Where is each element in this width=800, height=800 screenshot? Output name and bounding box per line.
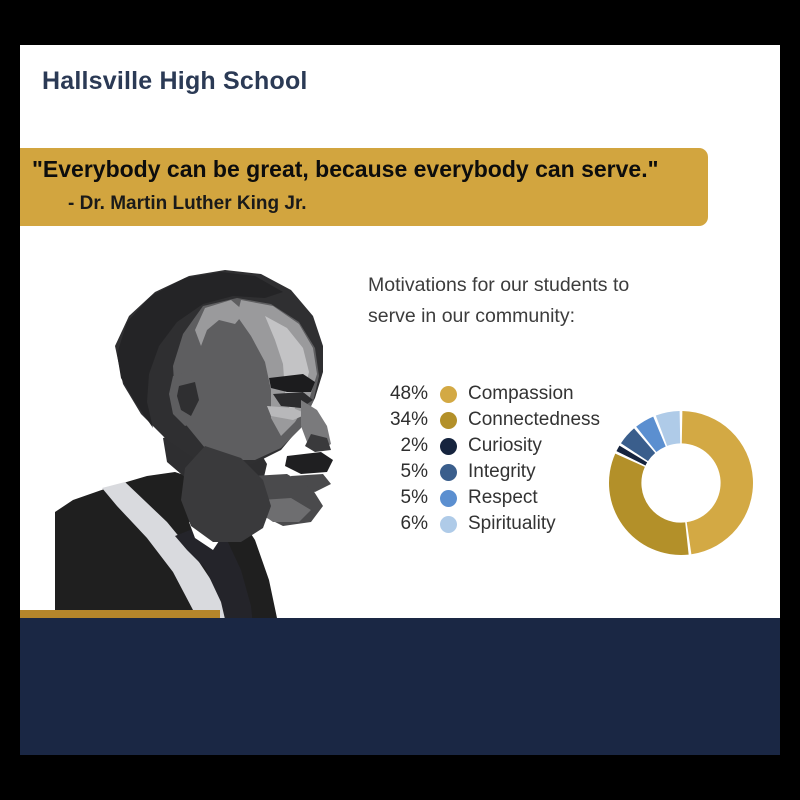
legend-item-compassion: 48% Compassion	[380, 381, 600, 407]
quote-attribution: - Dr. Martin Luther King Jr.	[68, 193, 307, 215]
legend-item-connectedness: 34% Connectedness	[380, 407, 600, 433]
quote-banner: "Everybody can be great, because everybo…	[20, 148, 708, 226]
legend-swatch-curiosity	[440, 438, 457, 455]
donut-slice-compassion	[682, 411, 753, 554]
legend-swatch-spirituality	[440, 516, 457, 533]
footer-banner: 2026 CELEBRATING MLK DAY OF SERVICE	[20, 618, 780, 755]
page-title: Hallsville High School	[42, 67, 308, 96]
legend-percent: 34%	[380, 409, 428, 431]
legend-item-curiosity: 2% Curiosity	[380, 433, 600, 459]
legend-percent: 5%	[380, 487, 428, 509]
legend-percent: 2%	[380, 435, 428, 457]
poster-stage: Hallsville High School "Everybody can be…	[0, 0, 800, 800]
legend-label: Connectedness	[468, 409, 600, 431]
legend-label: Respect	[468, 487, 538, 509]
donut-slice-connectedness	[609, 454, 689, 555]
legend-swatch-integrity	[440, 464, 457, 481]
chart-heading: Motivations for our students to serve in…	[368, 270, 678, 332]
legend-percent: 6%	[380, 513, 428, 535]
legend-label: Curiosity	[468, 435, 542, 457]
legend-swatch-compassion	[440, 386, 457, 403]
legend-item-spirituality: 6% Spirituality	[380, 511, 600, 537]
mlk-portrait-illustration	[55, 250, 385, 645]
legend-label: Integrity	[468, 461, 536, 483]
chart-legend: 48% Compassion 34% Connectedness 2% Curi…	[380, 381, 600, 537]
donut-chart	[606, 408, 756, 558]
legend-label: Compassion	[468, 383, 574, 405]
poster-card: Hallsville High School "Everybody can be…	[20, 45, 780, 755]
quote-text: "Everybody can be great, because everybo…	[32, 156, 659, 183]
legend-swatch-respect	[440, 490, 457, 507]
legend-percent: 5%	[380, 461, 428, 483]
legend-label: Spirituality	[468, 513, 556, 535]
legend-item-respect: 5% Respect	[380, 485, 600, 511]
legend-swatch-connectedness	[440, 412, 457, 429]
legend-percent: 48%	[380, 383, 428, 405]
legend-item-integrity: 5% Integrity	[380, 459, 600, 485]
